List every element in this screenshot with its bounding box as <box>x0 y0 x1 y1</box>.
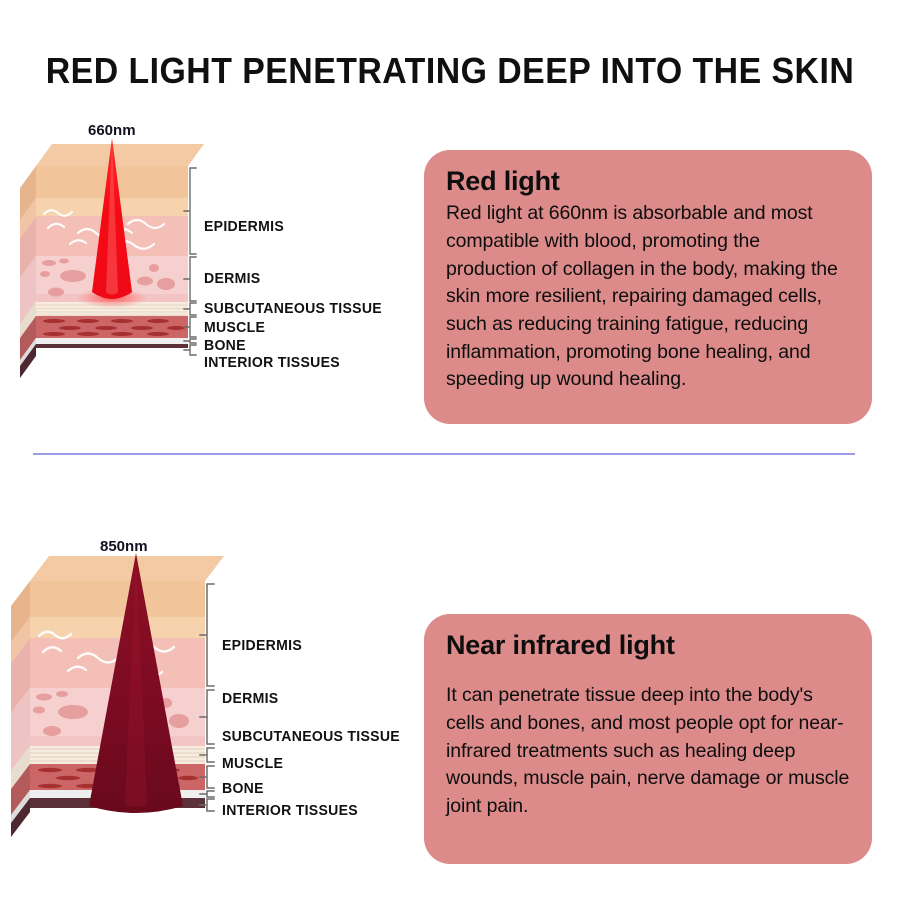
info-card-near-infrared: Near infrared light It can penetrate tis… <box>424 614 872 864</box>
layer-label-epidermis-red: EPIDERMIS <box>204 219 284 235</box>
wavelength-label-red: 660nm <box>88 122 136 139</box>
layer-interior-tissues <box>36 344 188 356</box>
layer-label-muscle-red: MUSCLE <box>204 320 265 336</box>
layer-label-dermis-nir: DERMIS <box>222 691 278 707</box>
layer-label-muscle-nir: MUSCLE <box>222 756 283 772</box>
layer-label-bone-red: BONE <box>204 338 246 354</box>
block-side-face <box>20 166 36 378</box>
section-near-infrared-light: 850nm EPIDERMIS DERMIS SUBCUTANEOUS TISS… <box>0 492 900 872</box>
layer-epidermis-upper <box>30 581 205 617</box>
layer-bone <box>36 338 188 344</box>
info-card-heading-red: Red light <box>446 166 850 196</box>
info-card-heading-nir: Near infrared light <box>446 630 850 660</box>
info-card-body-nir: It can penetrate tissue deep into the bo… <box>446 682 850 820</box>
section-divider <box>33 453 855 455</box>
section-red-light: 660nm EPIDERMIS DERMIS SUBCUTANEOUS TISS… <box>0 108 900 438</box>
info-card-body-red: Red light at 660nm is absorbable and mos… <box>446 200 850 394</box>
layer-label-subcutaneous-red: SUBCUTANEOUS TISSUE <box>204 301 382 317</box>
layer-label-dermis-red: DERMIS <box>204 271 260 287</box>
layer-label-interior-tissues-nir: INTERIOR TISSUES <box>222 803 358 819</box>
page-title: RED LIGHT PENETRATING DEEP INTO THE SKIN <box>27 50 873 92</box>
skin-diagram-red <box>18 116 408 416</box>
layer-label-subcutaneous-nir: SUBCUTANEOUS TISSUE <box>222 729 400 745</box>
wavelength-label-nir: 850nm <box>100 538 148 555</box>
layer-label-bone-nir: BONE <box>222 781 264 797</box>
layer-label-epidermis-nir: EPIDERMIS <box>222 638 302 654</box>
block-side-face <box>11 581 30 837</box>
layer-label-interior-tissues-red: INTERIOR TISSUES <box>204 355 340 371</box>
info-card-red-light: Red light Red light at 660nm is absorbab… <box>424 150 872 424</box>
